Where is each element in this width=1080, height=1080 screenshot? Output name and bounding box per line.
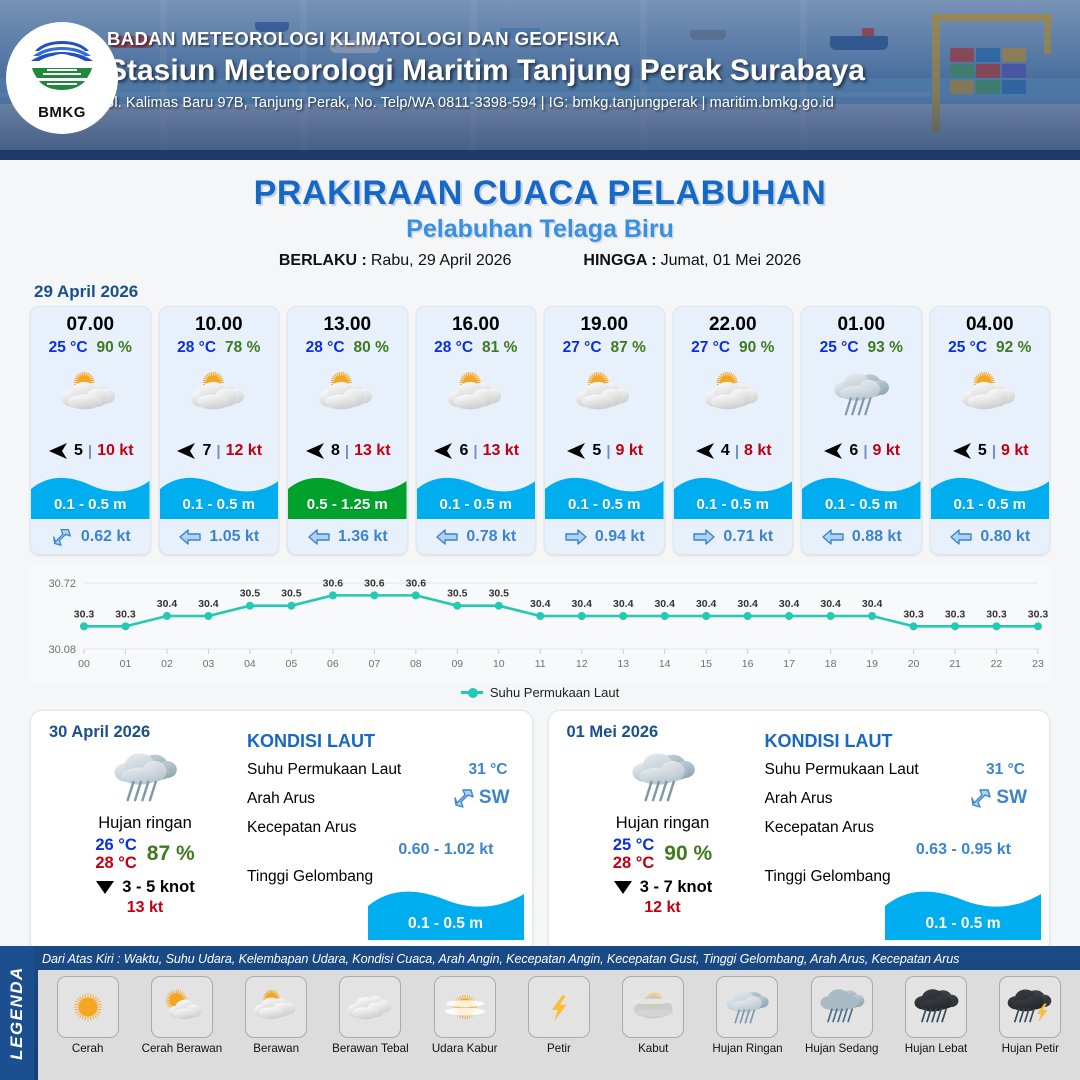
panel-temp-range: 25 °C28 °C	[613, 836, 654, 873]
current-speed: 0.94 kt	[595, 528, 645, 546]
weather-condition-icon	[31, 357, 150, 431]
sst-row: Suhu Permukaan Laut31 °C	[765, 761, 1034, 781]
current-direction-icon	[821, 528, 845, 546]
weather-condition-icon	[674, 357, 793, 431]
valid-until-label: HINGGA :	[583, 252, 656, 269]
legend-item-label: Berawan	[253, 1042, 299, 1055]
current-direction-icon	[949, 528, 973, 546]
svg-text:30.6: 30.6	[406, 577, 427, 589]
wind-info: 4|8 kt	[674, 431, 793, 471]
legend-icon-hujan-ringan	[716, 976, 778, 1038]
wind-speed: 6	[849, 442, 858, 460]
legend-item: Hujan Sedang	[798, 976, 885, 1055]
gust-speed: 9 kt	[1001, 442, 1029, 460]
current-info: 0.71 kt	[674, 519, 793, 554]
legend-note: Dari Atas Kiri : Waktu, Suhu Udara, Kele…	[34, 946, 1080, 970]
wave-height-value: 0.1 - 0.5 m	[802, 496, 921, 513]
panel-humidity: 87 %	[147, 842, 195, 866]
legend-icon-udara-kabur	[434, 976, 496, 1038]
current-direction-icon	[435, 528, 459, 546]
svg-text:30.5: 30.5	[489, 588, 510, 600]
daily-forecast-panel: 30 April 2026Hujan ringan26 °C28 °C87 %3…	[30, 710, 533, 953]
legend-icon-berawan	[245, 976, 307, 1038]
forecast-card: 10.0028 °C78 %7|12 kt0.1 - 0.5 m1.05 kt	[159, 306, 280, 555]
svg-text:15: 15	[700, 658, 712, 670]
panel-temp-min: 26 °C	[95, 836, 136, 854]
svg-text:30.6: 30.6	[323, 577, 344, 589]
current-direction-value: SW	[479, 787, 510, 809]
forecast-time: 10.00	[160, 307, 279, 336]
panel-wave-value: 0.1 - 0.5 m	[368, 915, 524, 933]
current-direction-value-group: SW	[451, 786, 510, 810]
gust-speed: 8 kt	[744, 442, 772, 460]
legend-section: LEGENDA Dari Atas Kiri : Waktu, Suhu Uda…	[0, 946, 1080, 1080]
wind-separator: |	[992, 443, 996, 460]
legend-item: Cerah Berawan	[138, 976, 225, 1055]
legend-item: Berawan Tebal	[327, 976, 414, 1055]
current-direction-icon	[692, 528, 716, 546]
wind-speed: 8	[331, 442, 340, 460]
current-direction-value-group: SW	[968, 786, 1027, 810]
forecast-card-row: 07.0025 °C90 %5|10 kt0.1 - 0.5 m0.62 kt1…	[0, 306, 1080, 555]
forecast-temperature: 28 °C	[306, 339, 345, 357]
weather-condition-icon	[567, 744, 759, 810]
svg-text:12: 12	[576, 658, 588, 670]
validity-row: BERLAKU :Rabu, 29 April 2026 HINGGA :Jum…	[0, 252, 1080, 270]
panel-wind-speed: 3 - 7 knot	[640, 878, 712, 897]
legend-side-label: LEGENDA	[0, 946, 34, 1080]
legend-item-row: CerahCerah BerawanBerawanBerawan TebalUd…	[38, 970, 1080, 1080]
chart-legend-label: Suhu Permukaan Laut	[490, 685, 619, 700]
svg-text:14: 14	[659, 658, 671, 670]
weather-condition-icon	[417, 357, 536, 431]
bmkg-logo-text: BMKG	[38, 104, 86, 121]
wave-height-value: 0.5 - 1.25 m	[288, 496, 407, 513]
forecast-card: 19.0027 °C87 %5|9 kt0.1 - 0.5 m0.94 kt	[544, 306, 665, 555]
weather-condition-icon	[49, 744, 241, 810]
current-info: 0.80 kt	[931, 519, 1050, 554]
sst-value: 31 °C	[469, 761, 508, 779]
current-speed: 0.88 kt	[852, 528, 902, 546]
legend-item: Hujan Petir	[987, 976, 1074, 1055]
forecast-time: 19.00	[545, 307, 664, 336]
legend-item: Petir	[515, 976, 602, 1055]
svg-text:11: 11	[535, 658, 546, 670]
legend-icon-hujan-sedang	[811, 976, 873, 1038]
legend-icon-hujan-petir	[999, 976, 1061, 1038]
legend-icon-hujan-lebat	[905, 976, 967, 1038]
wave-height-value: 0.1 - 0.5 m	[674, 496, 793, 513]
svg-text:30.4: 30.4	[613, 598, 634, 610]
panel-left: 01 Mei 2026Hujan ringan25 °C28 °C90 %3 -…	[549, 711, 759, 952]
wind-info: 5|9 kt	[931, 431, 1050, 471]
wind-speed: 5	[74, 442, 83, 460]
chart-legend: Suhu Permukaan Laut	[0, 685, 1080, 700]
svg-text:30.3: 30.3	[1028, 608, 1049, 620]
legend-item: Hujan Lebat	[892, 976, 979, 1055]
current-info: 0.88 kt	[802, 519, 921, 554]
sst-label: Suhu Permukaan Laut	[247, 761, 401, 778]
svg-text:04: 04	[244, 658, 256, 670]
legend-item-label: Kabut	[638, 1042, 668, 1055]
svg-text:30.5: 30.5	[281, 588, 302, 600]
legend-item: Kabut	[610, 976, 697, 1055]
current-direction-icon	[50, 526, 74, 548]
wind-separator: |	[735, 443, 739, 460]
legend-item: Cerah	[44, 976, 131, 1055]
wind-separator: |	[88, 443, 92, 460]
panel-humidity: 90 %	[664, 842, 712, 866]
forecast-card: 13.0028 °C80 %8|13 kt0.5 - 1.25 m1.36 kt	[287, 306, 408, 555]
legend-icon-petir	[528, 976, 590, 1038]
svg-text:30.4: 30.4	[654, 598, 675, 610]
station-name: Stasiun Meteorologi Maritim Tanjung Pera…	[107, 54, 1037, 88]
panel-condition: Hujan ringan	[49, 814, 241, 833]
panel-date: 30 April 2026	[49, 723, 241, 742]
svg-text:30.5: 30.5	[240, 588, 261, 600]
forecast-temperature: 25 °C	[948, 339, 987, 357]
wind-info: 6|13 kt	[417, 431, 536, 471]
panel-date: 01 Mei 2026	[567, 723, 759, 742]
panel-sea-conditions: KONDISI LAUTSuhu Permukaan Laut31 °CArah…	[241, 711, 532, 952]
panel-wave-graphic: 0.1 - 0.5 m	[885, 882, 1041, 940]
current-speed: 0.80 kt	[980, 528, 1030, 546]
wind-direction-icon	[565, 442, 587, 460]
wind-info: 7|12 kt	[160, 431, 279, 471]
gust-speed: 13 kt	[483, 442, 519, 460]
wave-height-block: 0.1 - 0.5 m	[417, 471, 536, 519]
forecast-temperature: 25 °C	[49, 339, 88, 357]
wave-height-label: Tinggi Gelombang	[247, 868, 373, 885]
svg-text:30.6: 30.6	[364, 577, 385, 589]
current-speed-label: Kecepatan Arus	[247, 819, 356, 836]
forecast-time: 07.00	[31, 307, 150, 336]
wind-direction-icon	[694, 442, 716, 460]
current-speed-row: Kecepatan Arus	[765, 819, 1034, 839]
svg-text:30.4: 30.4	[737, 598, 758, 610]
sea-conditions-title: KONDISI LAUT	[765, 731, 1034, 752]
legend-icon-cerah	[57, 976, 119, 1038]
current-info: 0.94 kt	[545, 519, 664, 554]
wind-info: 8|13 kt	[288, 431, 407, 471]
forecast-time: 22.00	[674, 307, 793, 336]
current-info: 1.36 kt	[288, 519, 407, 554]
legend-item-label: Hujan Petir	[1002, 1042, 1059, 1055]
current-speed: 0.62 kt	[81, 528, 131, 546]
valid-from: BERLAKU :Rabu, 29 April 2026	[279, 252, 512, 270]
weather-condition-icon	[545, 357, 664, 431]
panel-condition: Hujan ringan	[567, 814, 759, 833]
svg-text:22: 22	[991, 658, 1003, 670]
wind-direction-icon	[951, 442, 973, 460]
svg-text:06: 06	[327, 658, 339, 670]
forecast-humidity: 92 %	[996, 339, 1031, 357]
header-text-block: BADAN METEOROLOGI KLIMATOLOGI DAN GEOFIS…	[107, 28, 1037, 111]
wave-height-block: 0.1 - 0.5 m	[931, 471, 1050, 519]
forecast-date-label: 29 April 2026	[34, 282, 1080, 302]
svg-text:09: 09	[451, 658, 463, 670]
svg-text:16: 16	[742, 658, 754, 670]
current-speed: 0.71 kt	[723, 528, 773, 546]
current-info: 0.78 kt	[417, 519, 536, 554]
header-bottom-strip	[0, 150, 1080, 160]
current-speed-label: Kecepatan Arus	[765, 819, 874, 836]
port-name: Pelabuhan Telaga Biru	[0, 215, 1080, 244]
svg-text:18: 18	[825, 658, 837, 670]
daily-panels: 30 April 2026Hujan ringan26 °C28 °C87 %3…	[0, 700, 1080, 953]
forecast-humidity: 81 %	[482, 339, 517, 357]
valid-from-label: BERLAKU :	[279, 252, 367, 269]
chart-legend-marker	[461, 691, 483, 694]
legend-item-label: Hujan Lebat	[905, 1042, 968, 1055]
current-info: 1.05 kt	[160, 519, 279, 554]
svg-text:30.08: 30.08	[48, 644, 76, 656]
title-block: PRAKIRAAN CUACA PELABUHAN Pelabuhan Tela…	[0, 174, 1080, 270]
wind-separator: |	[216, 443, 220, 460]
svg-text:23: 23	[1032, 658, 1044, 670]
svg-text:30.4: 30.4	[530, 598, 551, 610]
panel-wave-value: 0.1 - 0.5 m	[885, 915, 1041, 933]
forecast-humidity: 93 %	[868, 339, 903, 357]
svg-text:17: 17	[783, 658, 795, 670]
wind-speed: 7	[202, 442, 211, 460]
current-direction-icon	[451, 786, 477, 810]
panel-temp-max: 28 °C	[95, 854, 136, 872]
svg-text:10: 10	[493, 658, 505, 670]
forecast-card: 04.0025 °C92 %5|9 kt0.1 - 0.5 m0.80 kt	[930, 306, 1051, 555]
contact-info: Jl. Kalimas Baru 97B, Tanjung Perak, No.…	[107, 95, 1037, 111]
weather-condition-icon	[802, 357, 921, 431]
sst-row: Suhu Permukaan Laut31 °C	[247, 761, 516, 781]
panel-wind: 3 - 7 knot	[567, 878, 759, 897]
svg-text:30.3: 30.3	[986, 608, 1007, 620]
forecast-time: 13.00	[288, 307, 407, 336]
current-speed: 1.36 kt	[338, 528, 388, 546]
weather-condition-icon	[160, 357, 279, 431]
svg-text:02: 02	[161, 658, 173, 670]
panel-left: 30 April 2026Hujan ringan26 °C28 °C87 %3…	[31, 711, 241, 952]
current-speed-row: Kecepatan Arus	[247, 819, 516, 839]
panel-temp-min: 25 °C	[613, 836, 654, 854]
svg-text:07: 07	[369, 658, 381, 670]
valid-from-value: Rabu, 29 April 2026	[371, 252, 512, 269]
legend-item-label: Petir	[547, 1042, 571, 1055]
legend-item-label: Cerah	[72, 1042, 104, 1055]
wind-direction-icon	[613, 879, 633, 895]
wind-info: 5|9 kt	[545, 431, 664, 471]
forecast-time: 16.00	[417, 307, 536, 336]
legend-item-label: Hujan Sedang	[805, 1042, 879, 1055]
wind-direction-icon	[175, 442, 197, 460]
bmkg-logo: BMKG	[6, 22, 118, 134]
svg-text:30.3: 30.3	[74, 608, 95, 620]
gust-speed: 13 kt	[354, 442, 390, 460]
svg-text:30.3: 30.3	[903, 608, 924, 620]
daily-forecast-panel: 01 Mei 2026Hujan ringan25 °C28 °C90 %3 -…	[548, 710, 1051, 953]
panel-temp-range: 26 °C28 °C	[95, 836, 136, 873]
wind-speed: 5	[592, 442, 601, 460]
forecast-temp-humidity: 28 °C81 %	[417, 339, 536, 357]
forecast-humidity: 90 %	[97, 339, 132, 357]
forecast-temp-humidity: 25 °C92 %	[931, 339, 1050, 357]
current-info: 0.62 kt	[31, 519, 150, 554]
wave-height-value: 0.1 - 0.5 m	[160, 496, 279, 513]
svg-text:30.4: 30.4	[820, 598, 841, 610]
current-direction-row: Arah ArusSW	[247, 790, 516, 810]
svg-text:30.3: 30.3	[945, 608, 966, 620]
forecast-temperature: 28 °C	[177, 339, 216, 357]
current-speed-value: 0.60 - 1.02 kt	[247, 841, 516, 859]
wave-height-value: 0.1 - 0.5 m	[31, 496, 150, 513]
wind-direction-icon	[47, 442, 69, 460]
panel-gust: 13 kt	[49, 899, 241, 917]
gust-speed: 12 kt	[226, 442, 262, 460]
wind-direction-icon	[95, 879, 115, 895]
sst-value: 31 °C	[986, 761, 1025, 779]
svg-text:05: 05	[286, 658, 298, 670]
forecast-card: 07.0025 °C90 %5|10 kt0.1 - 0.5 m0.62 kt	[30, 306, 151, 555]
forecast-card: 16.0028 °C81 %6|13 kt0.1 - 0.5 m0.78 kt	[416, 306, 537, 555]
forecast-temperature: 27 °C	[563, 339, 602, 357]
svg-text:08: 08	[410, 658, 422, 670]
svg-text:30.4: 30.4	[779, 598, 800, 610]
wave-height-block: 0.1 - 0.5 m	[160, 471, 279, 519]
svg-text:03: 03	[203, 658, 215, 670]
current-direction-icon	[564, 528, 588, 546]
panel-wind-speed: 3 - 5 knot	[122, 878, 194, 897]
wave-height-block: 0.1 - 0.5 m	[802, 471, 921, 519]
panel-wave-graphic: 0.1 - 0.5 m	[368, 882, 524, 940]
forecast-humidity: 80 %	[354, 339, 389, 357]
wind-speed: 5	[978, 442, 987, 460]
forecast-humidity: 87 %	[611, 339, 646, 357]
wind-separator: |	[863, 443, 867, 460]
svg-text:13: 13	[617, 658, 629, 670]
legend-item: Hujan Ringan	[704, 976, 791, 1055]
forecast-temperature: 25 °C	[820, 339, 859, 357]
current-direction-icon	[968, 786, 994, 810]
panel-sea-conditions: KONDISI LAUTSuhu Permukaan Laut31 °CArah…	[759, 711, 1050, 952]
svg-text:30.4: 30.4	[696, 598, 717, 610]
legend-item-label: Udara Kabur	[432, 1042, 498, 1055]
legend-icon-berawan-tebal	[339, 976, 401, 1038]
current-direction-row: Arah ArusSW	[765, 790, 1034, 810]
legend-item-label: Hujan Ringan	[712, 1042, 782, 1055]
wind-separator: |	[473, 443, 477, 460]
forecast-temp-humidity: 28 °C80 %	[288, 339, 407, 357]
bmkg-logo-mark	[25, 35, 99, 103]
current-speed: 1.05 kt	[209, 528, 259, 546]
panel-temperatures: 26 °C28 °C87 %	[49, 836, 241, 873]
wind-direction-icon	[822, 442, 844, 460]
forecast-humidity: 90 %	[739, 339, 774, 357]
forecast-time: 04.00	[931, 307, 1050, 336]
legend-icon-kabut	[622, 976, 684, 1038]
panel-temperatures: 25 °C28 °C90 %	[567, 836, 759, 873]
wind-separator: |	[345, 443, 349, 460]
wave-height-block: 0.1 - 0.5 m	[674, 471, 793, 519]
weather-condition-icon	[288, 357, 407, 431]
forecast-card: 22.0027 °C90 %4|8 kt0.1 - 0.5 m0.71 kt	[673, 306, 794, 555]
svg-text:20: 20	[908, 658, 920, 670]
wave-height-label: Tinggi Gelombang	[765, 868, 891, 885]
wave-height-block: 0.5 - 1.25 m	[288, 471, 407, 519]
legend-icon-cerah-berawan	[151, 976, 213, 1038]
svg-text:30.4: 30.4	[862, 598, 883, 610]
svg-text:19: 19	[866, 658, 878, 670]
forecast-temperature: 28 °C	[434, 339, 473, 357]
current-direction-label: Arah Arus	[247, 790, 315, 807]
wave-height-block: 0.1 - 0.5 m	[545, 471, 664, 519]
valid-until: HINGGA :Jumat, 01 Mei 2026	[583, 252, 801, 270]
current-direction-icon	[307, 528, 331, 546]
svg-text:30.4: 30.4	[198, 598, 219, 610]
svg-text:30.4: 30.4	[572, 598, 593, 610]
current-direction-icon	[178, 528, 202, 546]
legend-item: Udara Kabur	[421, 976, 508, 1055]
current-direction-label: Arah Arus	[765, 790, 833, 807]
forecast-temp-humidity: 25 °C93 %	[802, 339, 921, 357]
forecast-time: 01.00	[802, 307, 921, 336]
legend-item-label: Cerah Berawan	[142, 1042, 223, 1055]
legend-main: Dari Atas Kiri : Waktu, Suhu Udara, Kele…	[34, 946, 1080, 1080]
svg-text:30.4: 30.4	[157, 598, 178, 610]
wave-height-block: 0.1 - 0.5 m	[31, 471, 150, 519]
svg-text:30.72: 30.72	[48, 578, 76, 590]
sst-label: Suhu Permukaan Laut	[765, 761, 919, 778]
panel-wind: 3 - 5 knot	[49, 878, 241, 897]
svg-text:30.3: 30.3	[115, 608, 136, 620]
legend-item-label: Berawan Tebal	[332, 1042, 409, 1055]
wave-height-value: 0.1 - 0.5 m	[417, 496, 536, 513]
wind-speed: 6	[459, 442, 468, 460]
valid-until-value: Jumat, 01 Mei 2026	[661, 252, 802, 269]
forecast-temp-humidity: 27 °C90 %	[674, 339, 793, 357]
wave-height-value: 0.1 - 0.5 m	[545, 496, 664, 513]
page-header: BMKG BADAN METEOROLOGI KLIMATOLOGI DAN G…	[0, 0, 1080, 160]
wind-direction-icon	[432, 442, 454, 460]
agency-name: BADAN METEOROLOGI KLIMATOLOGI DAN GEOFIS…	[107, 28, 1037, 50]
wave-height-value: 0.1 - 0.5 m	[931, 496, 1050, 513]
current-direction-value: SW	[996, 787, 1027, 809]
legend-side-text: LEGENDA	[7, 966, 27, 1060]
forecast-temp-humidity: 25 °C90 %	[31, 339, 150, 357]
legend-item: Berawan	[233, 976, 320, 1055]
wind-info: 6|9 kt	[802, 431, 921, 471]
svg-text:00: 00	[78, 658, 90, 670]
gust-speed: 9 kt	[616, 442, 644, 460]
current-speed: 0.78 kt	[466, 528, 516, 546]
svg-text:30.5: 30.5	[447, 588, 468, 600]
wind-speed: 4	[721, 442, 730, 460]
svg-text:01: 01	[120, 658, 132, 670]
sst-chart-svg: 30.7230.08000102030405060708091011121314…	[28, 565, 1052, 683]
sst-chart: 30.7230.08000102030405060708091011121314…	[28, 565, 1052, 683]
panel-temp-max: 28 °C	[613, 854, 654, 872]
page-title: PRAKIRAAN CUACA PELABUHAN	[0, 174, 1080, 213]
forecast-temp-humidity: 28 °C78 %	[160, 339, 279, 357]
svg-text:21: 21	[949, 658, 961, 670]
wind-separator: |	[606, 443, 610, 460]
forecast-humidity: 78 %	[225, 339, 260, 357]
forecast-temp-humidity: 27 °C87 %	[545, 339, 664, 357]
forecast-card: 01.0025 °C93 %6|9 kt0.1 - 0.5 m0.88 kt	[801, 306, 922, 555]
wind-direction-icon	[304, 442, 326, 460]
gust-speed: 9 kt	[873, 442, 901, 460]
panel-gust: 12 kt	[567, 899, 759, 917]
current-speed-value: 0.63 - 0.95 kt	[765, 841, 1034, 859]
wind-info: 5|10 kt	[31, 431, 150, 471]
